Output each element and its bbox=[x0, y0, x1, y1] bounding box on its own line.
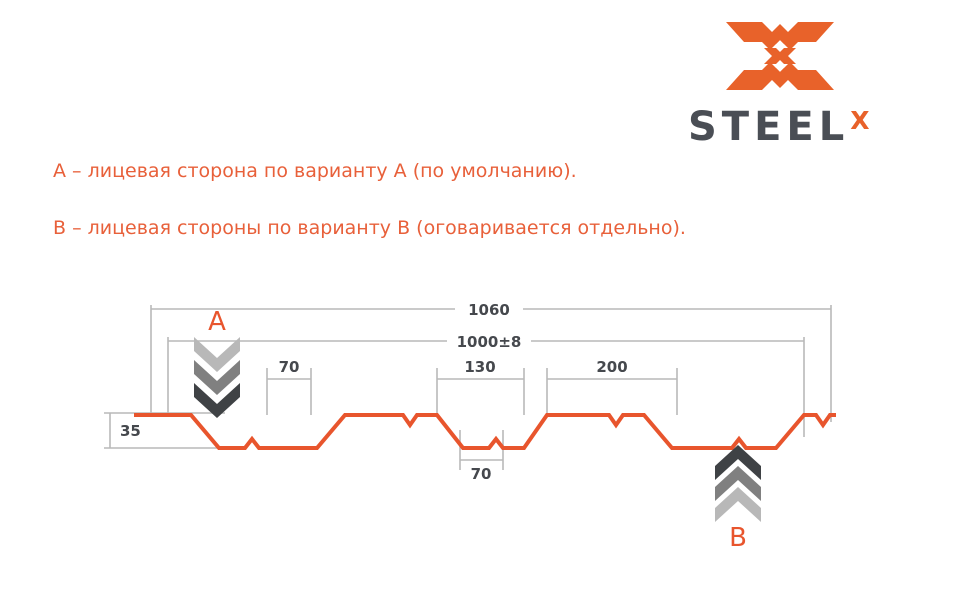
dimension-rib-top-width: 70 bbox=[267, 358, 311, 379]
profile-cross-section-drawing: 1060 1000±8 70 130 200 bbox=[0, 282, 970, 552]
dimension-wave-pitch: 200 bbox=[547, 358, 677, 379]
chevron-up-triple-icon bbox=[715, 445, 761, 522]
side-a-marker: А bbox=[194, 307, 240, 418]
side-a-label: А bbox=[208, 307, 226, 337]
side-b-label: В bbox=[729, 523, 747, 552]
brand-wordmark: STEELX bbox=[688, 106, 908, 148]
dimension-label-200: 200 bbox=[596, 358, 627, 376]
dimension-profile-height: 35 bbox=[110, 413, 141, 448]
legend-line-variant-a: А – лицевая сторона по варианту А (по ум… bbox=[53, 160, 577, 182]
steelx-x-mark-icon bbox=[724, 18, 836, 94]
side-b-marker: В bbox=[715, 445, 761, 552]
dimension-overall-width: 1060 bbox=[151, 301, 831, 319]
chevron-down-triple-icon bbox=[194, 337, 240, 418]
wordmark-x-superscript: X bbox=[850, 106, 869, 135]
legend-line-variant-b: В – лицевая стороны по варианту В (огова… bbox=[53, 217, 686, 239]
dimension-label-1000: 1000±8 bbox=[457, 333, 522, 351]
dimension-cover-width: 1000±8 bbox=[168, 333, 804, 351]
corrugated-profile-line bbox=[134, 415, 836, 448]
dimension-crest-pitch: 130 bbox=[437, 358, 524, 379]
dimension-label-130: 130 bbox=[464, 358, 495, 376]
wordmark-steel-text: STEEL bbox=[688, 104, 849, 150]
dimension-label-35: 35 bbox=[120, 422, 141, 440]
dimension-valley-width: 70 bbox=[460, 460, 503, 483]
dimension-label-1060: 1060 bbox=[468, 301, 510, 319]
profile-drawing-page: STEELX А – лицевая сторона по варианту А… bbox=[0, 0, 970, 597]
brand-logo: STEELX bbox=[688, 18, 908, 143]
dimension-label-70-top: 70 bbox=[279, 358, 300, 376]
dimension-label-70-bottom: 70 bbox=[471, 465, 492, 483]
